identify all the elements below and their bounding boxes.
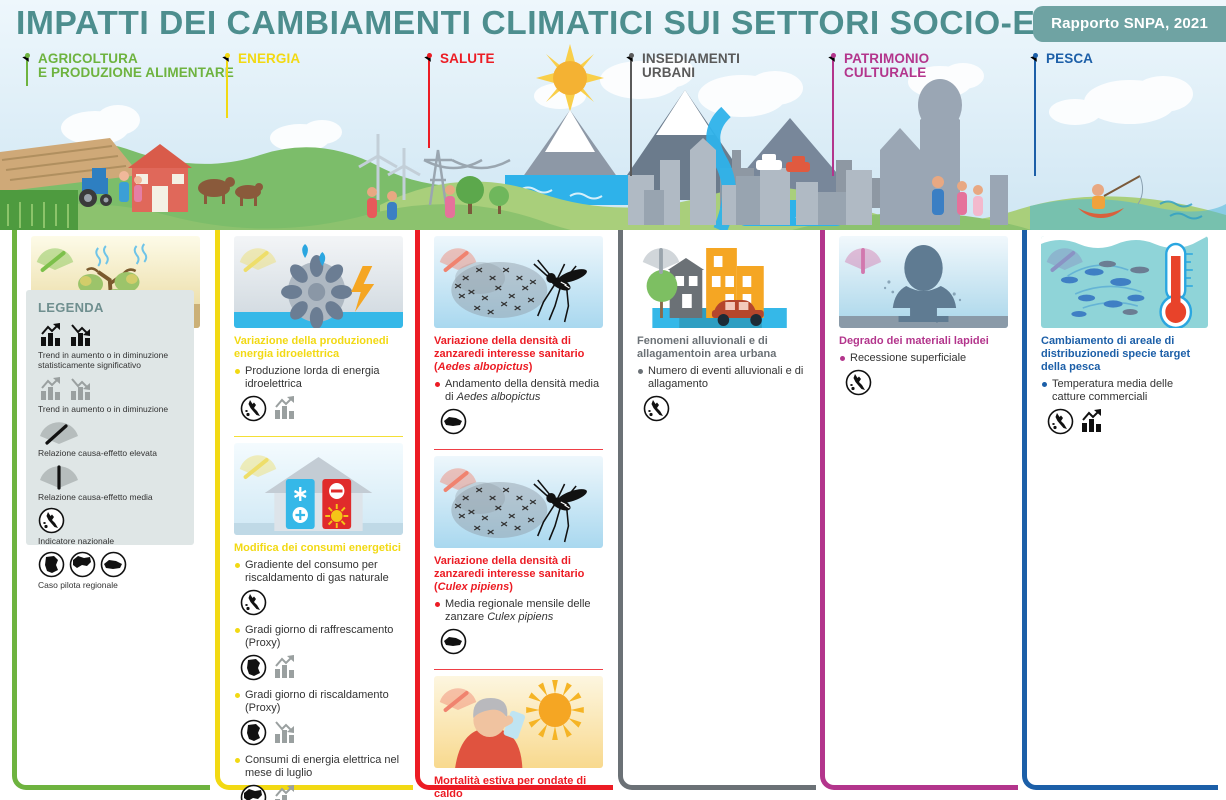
legend-item-icons [38,508,184,534]
indicator-bullet [840,356,845,361]
sector-leader-line-insediamenti [630,56,632,176]
indicator-text-part: Aedes albopictus [457,391,541,403]
card-title-part: Modifica dei consumi energetici [234,542,401,554]
region-sicilia-icon [440,628,467,655]
region-sicilia-icon [100,551,127,578]
indicator-icons [440,407,603,435]
legend-item-icons [38,420,184,446]
sector-label-line1: AGRICOLTURA [38,51,138,66]
indicator-text-part: Consumi di energia elettrica nel mese di… [245,754,399,779]
impact-card-energia-0: Variazione della produzionedi energia id… [234,236,403,422]
indicator-bullet [235,628,240,633]
impact-card-pesca-0: Cambiamento di areale di distribuzionedi… [1041,236,1208,435]
card-title-part: ) [509,581,513,593]
trend-up-black-icon [38,322,64,348]
indicator-bullet [235,693,240,698]
sector-leader-arrow-insediamenti [629,53,634,58]
indicator-row: Gradiente del consumo per riscaldamento … [234,559,403,585]
sector-label-line1: ENERGIA [238,51,300,66]
indicator-text: Recessione superficiale [850,352,966,365]
sector-label-salute: SALUTE [440,52,495,66]
indicator-bullet [235,369,240,374]
impact-card-patrimonio-0: Degrado dei materiali lapideiRecessione … [839,236,1008,396]
card-title-part: Culex pipiens [438,581,510,593]
legend-item-2: Relazione causa-effetto elevata [38,420,184,458]
sector-label-line1: INSEDIAMENTI [642,51,740,66]
indicator-row: Recessione superficiale [839,352,1008,365]
indicator-row: Temperatura media delle catture commerci… [1041,378,1208,404]
sector-label-line1: PESCA [1046,51,1093,66]
card-illustration-urban-flood [637,236,806,328]
indicator-text-part: Numero di eventi alluvionali e di allaga… [648,365,803,390]
indicator-bullet [435,602,440,607]
card-illustration-heat-elderly [434,676,603,768]
legend-item-3: Relazione causa-effetto media [38,464,184,502]
card-title: Variazione della densità di zanzaredi in… [434,335,603,374]
indicator-icons [240,653,403,681]
sector-label-line2: URBANI [642,65,695,80]
sector-label-line1: SALUTE [440,51,495,66]
indicator-text: Numero di eventi alluvionali e di allaga… [648,365,806,391]
legend-box: LEGENDA Trend in aumento o in diminuzion… [26,290,194,545]
region-nord-icon [240,784,267,800]
indicator-list: Media regionale mensile delle zanzare Cu… [434,598,603,655]
indicator-bullet [638,369,643,374]
sector-leader-arrow-energia [225,53,230,58]
indicator-text-part: Culex pipiens [487,611,553,623]
column-energia: Variazione della produzionedi energia id… [215,230,413,790]
italy-icon [240,395,267,422]
sector-leader-line-energia [226,56,228,118]
indicator-icons [240,588,403,616]
indicator-text-part: Recessione superficiale [850,352,966,364]
sector-leader-arrow-salute [427,53,432,58]
region-nord-icon [69,551,96,578]
indicator-text: Gradi giorno di raffrescamento (Proxy) [245,624,403,650]
sector-leader-arrow-pesca [1033,53,1038,58]
trend-up-black-icon [1079,408,1105,434]
italy-icon [240,589,267,616]
indicator-list: Temperatura media delle catture commerci… [1041,378,1208,435]
trend-down-grey-icon [68,376,94,402]
indicator-icons [240,718,403,746]
indicator-bullet [235,563,240,568]
indicator-row: Media regionale mensile delle zanzare Cu… [434,598,603,624]
card-illustration-fish-thermometer [1041,236,1208,328]
region-lombardia-icon [240,654,267,681]
card-illustration-house-heat-cool [234,443,403,535]
trend-up-grey-icon [272,395,298,421]
indicator-text: Andamento della densità media di Aedes a… [445,378,603,404]
region-lombardia-icon [38,551,65,578]
legend-item-icons [38,464,184,490]
sector-leader-arrow-patrimonio [831,53,836,58]
sector-label-patrimonio: PATRIMONIOCULTURALE [844,52,929,80]
card-title-part: Degrado dei materiali lapidei [839,335,989,347]
sector-leader-line-agricoltura [26,56,28,86]
card-separator [234,436,403,437]
legend-item-5: Caso pilota regionale [38,552,184,590]
legend-item-caption: Indicatore nazionale [38,536,184,546]
card-title: Mortalità estiva per ondate di caldo [434,775,603,800]
region-lombardia-icon [240,719,267,746]
indicator-list: Gradiente del consumo per riscaldamento … [234,559,403,800]
indicator-icons [845,368,1008,396]
sector-leader-line-pesca [1034,56,1036,176]
card-title-part: ) [529,361,533,373]
sector-label-line2: CULTURALE [844,65,926,80]
impact-card-insediamenti-0: Fenomeni alluvionali e di allagamentoin … [637,236,806,422]
gauge-high-icon [38,414,82,446]
indicator-bullet [1042,382,1047,387]
indicator-text: Produzione lorda di energia idroelettric… [245,365,403,391]
card-title: Modifica dei consumi energetici [234,542,403,555]
card-illustration-statue-erosion [839,236,1008,328]
indicator-text-part: Gradiente del consumo per riscaldamento … [245,559,389,584]
indicator-row: Gradi giorno di raffrescamento (Proxy) [234,624,403,650]
indicator-text-part: Produzione lorda di energia idroelettric… [245,365,380,390]
indicator-text-part: Gradi giorno di raffrescamento (Proxy) [245,624,393,649]
impact-card-salute-2: Mortalità estiva per ondate di caldoMort… [434,676,603,800]
indicator-list: Numero di eventi alluvionali e di allaga… [637,365,806,422]
indicator-icons [240,394,403,422]
legend-item-icons [38,552,184,578]
indicator-text: Consumi di energia elettrica nel mese di… [245,754,403,780]
indicator-icons [643,394,806,422]
legend-item-icons [38,322,184,348]
italy-icon [845,369,872,396]
trend-up-grey-icon [38,376,64,402]
impact-card-salute-1: Variazione della densità di zanzaredi in… [434,456,603,655]
column-pesca: Cambiamento di areale di distribuzionedi… [1022,230,1218,790]
legend-item-caption: Relazione causa-effetto media [38,492,184,502]
indicator-row: Numero di eventi alluvionali e di allaga… [637,365,806,391]
sector-leader-line-salute [428,56,430,148]
indicator-text: Temperatura media delle catture commerci… [1052,378,1208,404]
indicator-bullet [235,758,240,763]
indicator-text: Gradi giorno di riscaldamento (Proxy) [245,689,403,715]
card-illustration-mosquito-culex [434,456,603,548]
indicator-row: Andamento della densità media di Aedes a… [434,378,603,404]
card-illustration-mosquito-aedes [434,236,603,328]
legend-item-caption: Trend in aumento o in diminuzione [38,404,184,414]
indicator-text-part: Temperatura media delle catture commerci… [1052,378,1173,403]
legend-title: LEGENDA [38,300,184,315]
indicator-list: Andamento della densità media di Aedes a… [434,378,603,435]
legend-item-icons [38,376,184,402]
impact-card-salute-0: Variazione della densità di zanzaredi in… [434,236,603,435]
sector-label-pesca: PESCA [1046,52,1093,66]
legend-item-caption: Caso pilota regionale [38,580,184,590]
indicator-row: Consumi di energia elettrica nel mese di… [234,754,403,780]
card-title: Cambiamento di areale di distribuzionedi… [1041,335,1208,374]
indicator-icons [1047,407,1208,435]
indicator-text: Media regionale mensile delle zanzare Cu… [445,598,603,624]
report-badge: Rapporto SNPA, 2021 [1033,6,1226,42]
card-title: Variazione della produzionedi energia id… [234,335,403,361]
italy-icon [38,507,65,534]
card-separator [434,669,603,670]
indicator-row: Produzione lorda di energia idroelettric… [234,365,403,391]
card-separator [434,449,603,450]
sector-label-line1: PATRIMONIO [844,51,929,66]
indicator-icons [240,783,403,800]
card-title: Fenomeni alluvionali e di allagamentoin … [637,335,806,361]
legend-item-1: Trend in aumento o in diminuzione [38,376,184,414]
gauge-medium-icon [38,458,82,490]
italy-icon [1047,408,1074,435]
indicator-row: Gradi giorno di riscaldamento (Proxy) [234,689,403,715]
trend-up-grey-icon [272,784,298,800]
card-title-part: Variazione della produzione [234,335,379,347]
card-illustration-water-wheel [234,236,403,328]
column-insediamenti: Fenomeni alluvionali e di allagamentoin … [618,230,816,790]
card-title-part: in area urbana [701,348,776,360]
card-title-part: Mortalità estiva per ondate di caldo [434,775,586,800]
legend-item-4: Indicatore nazionale [38,508,184,546]
legend-item-caption: Trend in aumento o in diminuzione statis… [38,350,184,370]
card-title-part: Aedes albopictus [438,361,529,373]
sun-icon [536,44,604,112]
legend-item-caption: Relazione causa-effetto elevata [38,448,184,458]
column-patrimonio: Degrado dei materiali lapideiRecessione … [820,230,1018,790]
impact-card-energia-1: Modifica dei consumi energeticiGradiente… [234,443,403,800]
column-salute: Variazione della densità di zanzaredi in… [415,230,613,790]
indicator-text: Gradiente del consumo per riscaldamento … [245,559,403,585]
sector-label-energia: ENERGIA [238,52,300,66]
legend-items: Trend in aumento o in diminuzione statis… [38,322,184,590]
sector-label-insediamenti: INSEDIAMENTIURBANI [642,52,740,80]
sector-label-line2: E PRODUZIONE ALIMENTARE [38,65,234,80]
italy-icon [643,395,670,422]
card-title: Degrado dei materiali lapidei [839,335,1008,348]
indicator-list: Produzione lorda di energia idroelettric… [234,365,403,422]
indicator-icons [440,627,603,655]
trend-down-black-icon [68,322,94,348]
indicator-text-part: Gradi giorno di riscaldamento (Proxy) [245,689,389,714]
trend-down-grey-icon [272,719,298,745]
legend-item-0: Trend in aumento o in diminuzione statis… [38,322,184,370]
sector-label-agricoltura: AGRICOLTURAE PRODUZIONE ALIMENTARE [38,52,234,80]
sector-leader-arrow-agricoltura [25,53,30,58]
header-banner: IMPATTI DEI CAMBIAMENTI CLIMATICI SUI SE… [0,0,1226,230]
indicator-bullet [435,382,440,387]
sector-leader-line-patrimonio [832,56,834,176]
indicator-list: Recessione superficiale [839,352,1008,396]
region-sicilia-icon [440,408,467,435]
card-title: Variazione della densità di zanzaredi in… [434,555,603,594]
trend-up-grey-icon [272,654,298,680]
